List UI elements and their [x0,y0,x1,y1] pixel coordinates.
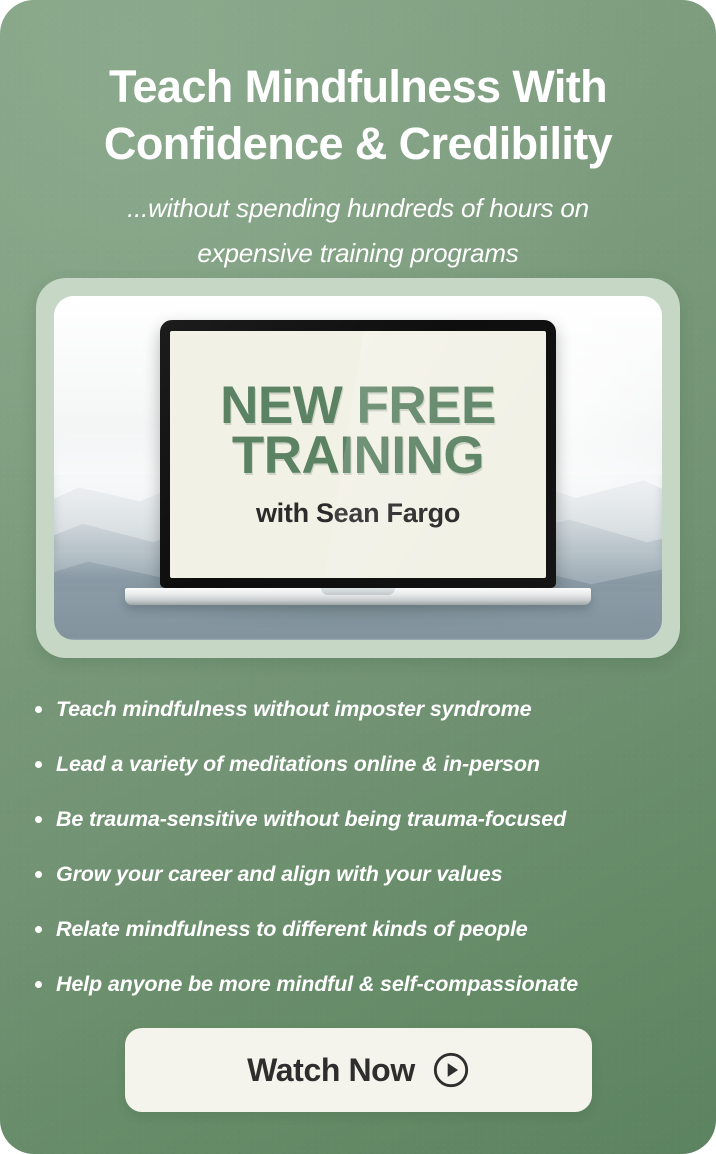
benefit-text: Be trauma-sensitive without being trauma… [56,807,566,832]
laptop-mockup: NEW FREE TRAINING with Sean Fargo [160,320,556,605]
bullet-dot-icon [35,981,42,988]
subhead-line-2: expensive training programs [0,231,716,276]
list-item: Teach mindfulness without imposter syndr… [0,682,716,737]
promo-card: Teach Mindfulness With Confidence & Cred… [0,0,716,1154]
benefit-text: Lead a variety of meditations online & i… [56,752,540,777]
bullet-dot-icon [35,926,42,933]
page-title: Teach Mindfulness With Confidence & Cred… [0,58,716,172]
video-title: NEW FREE TRAINING [220,381,496,481]
watch-now-label: Watch Now [247,1052,415,1089]
watch-now-button[interactable]: Watch Now [125,1028,592,1112]
laptop-base [125,588,591,605]
benefit-text: Relate mindfulness to different kinds of… [56,917,528,942]
list-item: Relate mindfulness to different kinds of… [0,902,716,957]
video-title-line-1: NEW FREE [220,381,496,431]
hero-image: NEW FREE TRAINING with Sean Fargo [54,296,662,640]
laptop-notch [321,588,395,595]
list-item: Lead a variety of meditations online & i… [0,737,716,792]
list-item: Help anyone be more mindful & self-compa… [0,957,716,1012]
benefits-list: Teach mindfulness without imposter syndr… [0,682,716,1012]
play-circle-icon [432,1051,470,1089]
bullet-dot-icon [35,816,42,823]
video-presenter: with Sean Fargo [256,498,460,529]
laptop-screen: NEW FREE TRAINING with Sean Fargo [170,331,546,578]
bullet-dot-icon [35,761,42,768]
benefit-text: Help anyone be more mindful & self-compa… [56,972,578,997]
bullet-dot-icon [35,706,42,713]
subhead-line-1: ...without spending hundreds of hours on [0,186,716,231]
page-subtitle: ...without spending hundreds of hours on… [0,186,716,276]
bullet-dot-icon [35,871,42,878]
headline-line-2: Confidence & Credibility [0,115,716,172]
benefit-text: Grow your career and align with your val… [56,862,502,887]
headline-line-1: Teach Mindfulness With [0,58,716,115]
video-title-line-2: TRAINING [220,431,496,481]
list-item: Grow your career and align with your val… [0,847,716,902]
list-item: Be trauma-sensitive without being trauma… [0,792,716,847]
laptop-lid: NEW FREE TRAINING with Sean Fargo [160,320,556,588]
laptop-shadow [123,605,593,631]
benefit-text: Teach mindfulness without imposter syndr… [56,697,531,722]
hero-media-card: NEW FREE TRAINING with Sean Fargo [36,278,680,658]
